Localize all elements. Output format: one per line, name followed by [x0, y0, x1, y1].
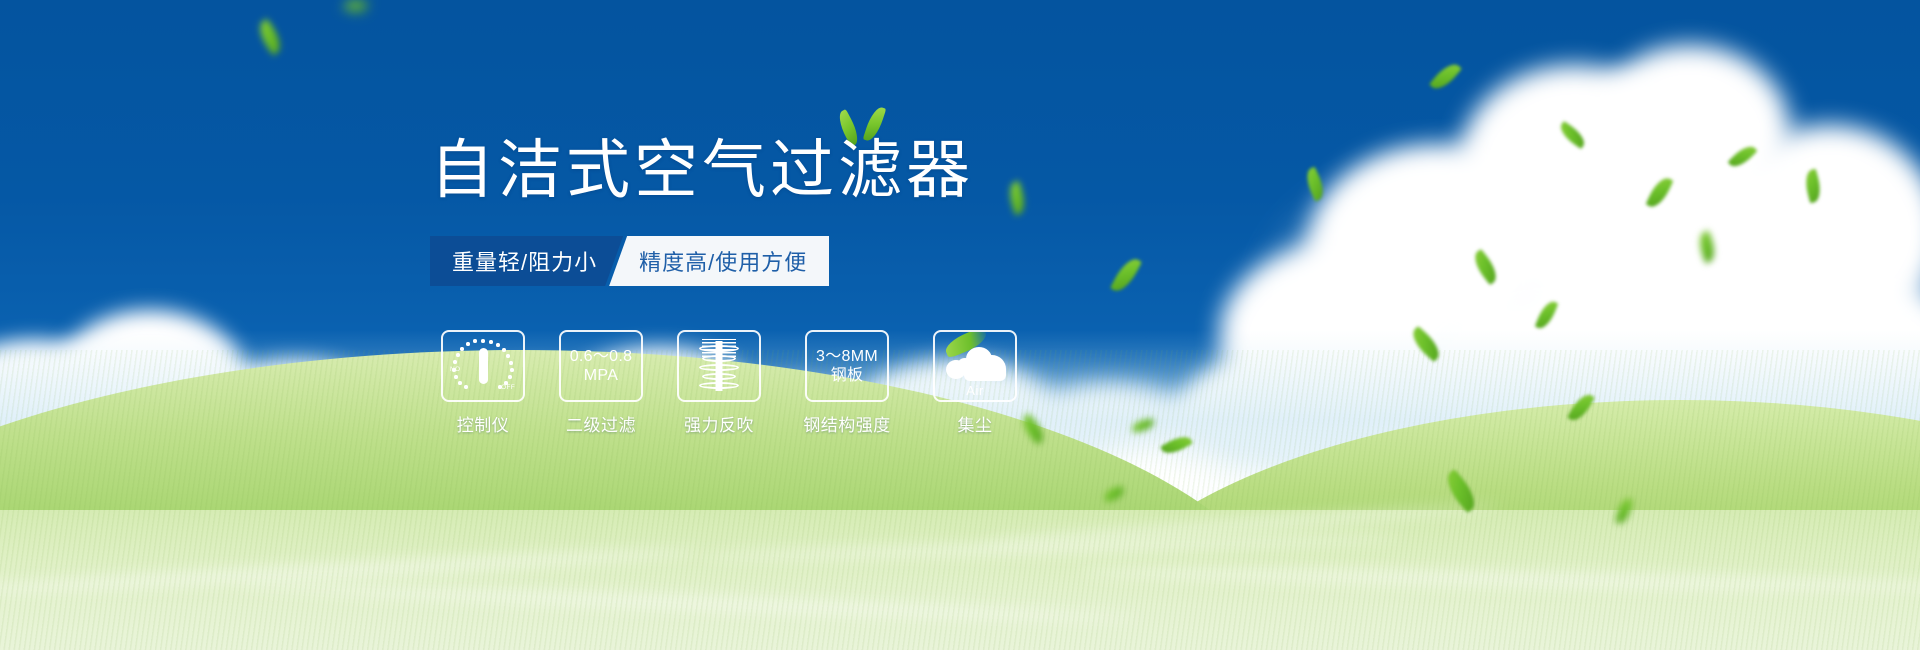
air-cloud-icon: Air	[940, 337, 1010, 395]
feature-caption: 集尘	[958, 411, 993, 436]
banner-content: 自洁式空气过滤器 重量轻/阻力小 精度高/使用方便	[0, 0, 1920, 650]
feature-box: 0.6～0.8 MPA	[559, 330, 643, 402]
feature-caption: 强力反吹	[684, 411, 754, 436]
feature-list: NO OFF 控制仪 0.6～0.8 MPA 二级过滤	[438, 330, 1020, 436]
feature-value-pressure: 0.6～0.8 MPA	[570, 347, 633, 385]
gauge-label-off: OFF	[501, 384, 515, 391]
gauge-label-no: NO	[450, 366, 460, 373]
feature-item-controller: NO OFF 控制仪	[438, 330, 528, 436]
hero-banner: 自洁式空气过滤器 重量轻/阻力小 精度高/使用方便	[0, 0, 1920, 650]
tag-primary: 重量轻/阻力小	[430, 236, 623, 286]
tag-secondary: 精度高/使用方便	[609, 236, 829, 286]
feature-item-dust: Air 集尘	[930, 330, 1020, 436]
feature-box	[677, 330, 761, 402]
feature-value-steel: 3～8MM 钢板	[816, 347, 878, 385]
feature-caption: 钢结构强度	[803, 411, 891, 436]
feature-box: Air	[933, 330, 1017, 402]
coil-icon	[691, 337, 747, 395]
feature-caption: 控制仪	[457, 411, 510, 436]
feature-item-steel: 3～8MM 钢板 钢结构强度	[792, 330, 902, 436]
page-title: 自洁式空气过滤器	[430, 138, 974, 202]
subtitle-tag-bar: 重量轻/阻力小 精度高/使用方便	[430, 236, 829, 286]
feature-box: NO OFF	[441, 330, 525, 402]
feature-caption: 二级过滤	[566, 411, 636, 436]
feature-item-blowback: 强力反吹	[674, 330, 764, 436]
feature-box: 3～8MM 钢板	[805, 330, 889, 402]
air-label: Air	[940, 383, 1010, 398]
feature-item-pressure: 0.6～0.8 MPA 二级过滤	[556, 330, 646, 436]
gauge-icon: NO OFF	[452, 338, 514, 394]
